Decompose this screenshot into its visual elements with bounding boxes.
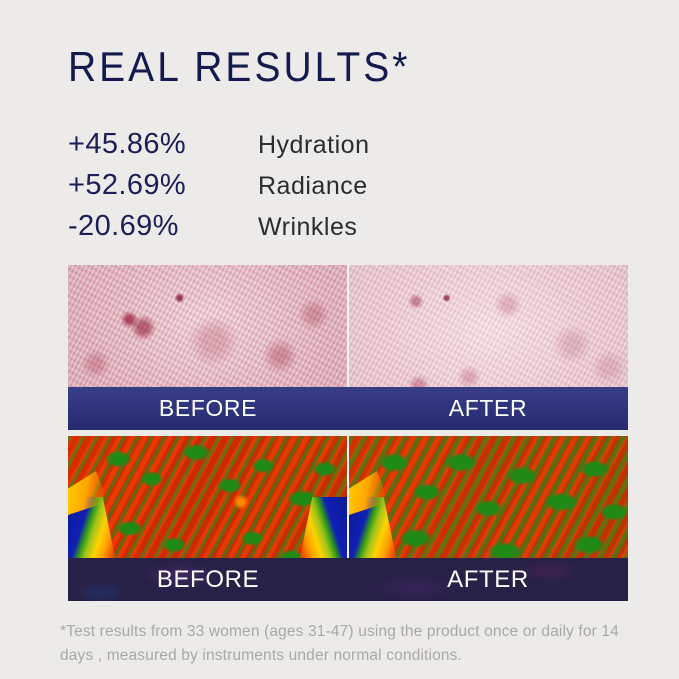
stat-label-radiance: Radiance (258, 172, 368, 201)
footnote-disclaimer: *Test results from 33 women (ages 31-47)… (60, 620, 638, 667)
stat-row-hydration: +45.86% Hydration (68, 128, 528, 169)
stats-list: +45.86% Hydration +52.69% Radiance -20.6… (68, 128, 528, 251)
caption-before-label: BEFORE (159, 395, 257, 422)
caption-cell-after: AFTER (348, 387, 628, 430)
thermal-caption-cell-before: BEFORE (68, 558, 348, 601)
page-title: REAL RESULTS* (68, 45, 410, 92)
caption-band-visible-light: BEFORE AFTER (68, 387, 628, 430)
caption-after-label: AFTER (449, 395, 527, 422)
stat-value-wrinkles: -20.69% (68, 210, 258, 243)
thermal-caption-before-label: BEFORE (157, 566, 259, 594)
results-infographic: REAL RESULTS* +45.86% Hydration +52.69% … (0, 0, 679, 679)
thermal-caption-cell-after: AFTER (348, 558, 628, 601)
thermal-caption-after-label: AFTER (447, 566, 529, 594)
comparison-gallery: BEFORE AFTER (68, 265, 628, 601)
stat-label-wrinkles: Wrinkles (258, 213, 357, 242)
caption-band-thermal: BEFORE AFTER (68, 558, 628, 601)
stat-value-hydration: +45.86% (68, 128, 258, 161)
panel-thermal: BEFORE AFTER (68, 436, 628, 601)
stat-row-radiance: +52.69% Radiance (68, 169, 528, 210)
caption-cell-before: BEFORE (68, 387, 348, 430)
stat-label-hydration: Hydration (258, 131, 370, 160)
stat-value-radiance: +52.69% (68, 169, 258, 202)
panel-visible-light: BEFORE AFTER (68, 265, 628, 430)
stat-row-wrinkles: -20.69% Wrinkles (68, 210, 528, 251)
